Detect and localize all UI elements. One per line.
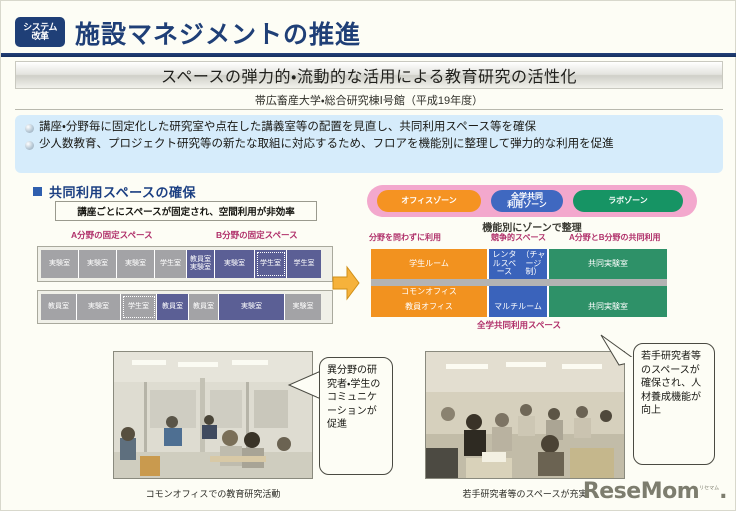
- zone-cell-label: コモンオフィス: [401, 288, 457, 297]
- room-cell-label: 実験室: [293, 303, 314, 311]
- room-cell-label: 実験室: [125, 260, 146, 268]
- after-floor-row-2-top: コモンオフィス: [371, 286, 667, 298]
- zone-lab: ラボゾーン: [573, 190, 683, 212]
- room-cell-label: 教員室: [162, 303, 183, 311]
- zone-office: オフィスゾーン: [377, 190, 481, 212]
- room-cell: 実験室: [41, 250, 79, 278]
- room-cell: 学生室: [287, 250, 321, 278]
- subtitle-text: スペースの弾力的・流動的な活用による教育研究の活性化: [161, 63, 577, 87]
- subtitle-divider: [15, 109, 723, 110]
- room-cell-label: 実験室: [88, 303, 109, 311]
- zone-shared: 全学共同利用ゾーン: [491, 190, 563, 212]
- before-caption-text: 講座ごとにスペースが固定され、空間利用が非効率: [77, 204, 294, 218]
- room-cell-label: 学生室: [128, 303, 149, 311]
- zone-cell-label: 共同実験室: [588, 303, 628, 312]
- zone-sub-shared: 競争的スペース: [491, 232, 546, 243]
- section-heading-label: 共同利用スペースの確保: [49, 182, 196, 201]
- separator-bar: [371, 279, 667, 286]
- bullet-panel: 講座・分野毎に固定化した研究室や点在した講義室等の配置を見直し、共同利用スペース…: [15, 115, 723, 173]
- subtitle-band: スペースの弾力的・流動的な活用による教育研究の活性化: [15, 61, 723, 89]
- header-divider: [1, 53, 736, 57]
- after-row-separator: [371, 279, 667, 286]
- slide-root: システム 改革 施設マネジメントの推進 スペースの弾力的・流動的な活用による教育…: [0, 0, 736, 511]
- badge-line-2: 改革: [31, 32, 48, 41]
- after-bottom-label: 全学共同利用スペース: [371, 319, 667, 331]
- room-cell: 実験室: [77, 294, 121, 320]
- section-heading: 共同利用スペースの確保: [33, 182, 196, 201]
- after-floor-row-1: 学生ルームレンタルスペース（チャージ制）共同実験室: [371, 249, 667, 279]
- watermark-dot: .: [719, 479, 727, 504]
- room-cell: 学生室: [255, 250, 287, 278]
- zone-cell: レンタルスペース（チャージ制）: [489, 249, 549, 279]
- zone-sub-lab: A分野とB分野の共同利用: [569, 232, 661, 243]
- room-cell: 実験室: [285, 294, 321, 320]
- callout-young-researchers-text: 若手研究者等のスペースが確保され、人材養成機能が向上: [641, 351, 701, 416]
- zone-sublabels: 分野を問わずに利用 競争的スペース A分野とB分野の共同利用: [367, 232, 697, 244]
- zone-cell-label: マルチルーム: [494, 303, 542, 312]
- resemom-watermark: ReseMomリセマム.: [583, 479, 727, 504]
- zone-cell: 教員オフィス: [371, 298, 489, 317]
- bullet-text: 講座・分野毎に固定化した研究室や点在した講義室等の配置を見直し、共同利用スペース…: [39, 120, 536, 136]
- zone-cell: 共同実験室: [549, 249, 667, 279]
- room-cell-label: 教員室: [193, 303, 214, 311]
- square-bullet-icon: [33, 187, 42, 196]
- subtitle-note: 帯広畜産大学・総合研究棟Ⅰ号館（平成19年度）: [15, 91, 723, 109]
- zone-cell: [489, 286, 549, 298]
- room-cell-label: 実験室: [224, 260, 245, 268]
- zone-cell-label: 学生ルーム: [409, 260, 449, 269]
- zone-shared-label: 全学共同利用ゾーン: [507, 193, 547, 210]
- callout-communication-text: 異分野の研究者・学生のコミュニケーションが促進: [327, 365, 380, 430]
- room-cell-label: 教員室: [190, 256, 211, 264]
- room-cell: 教員室: [157, 294, 189, 320]
- page-title: 施設マネジメントの推進: [75, 15, 361, 51]
- callout-young-researchers: 若手研究者等のスペースが確保され、人材養成機能が向上: [633, 343, 715, 465]
- field-b-label: B分野の固定スペース: [216, 229, 298, 241]
- photo-young-researchers: [425, 351, 625, 479]
- room-cell: 学生室: [155, 250, 187, 278]
- zone-cell: コモンオフィス: [371, 286, 489, 298]
- before-floor-row-2: 教員室実験室学生室教員室教員室実験室実験室: [37, 290, 333, 324]
- photo-common-office: [113, 351, 313, 479]
- room-cell-label: 学生室: [260, 260, 281, 268]
- zone-cell-label: 共同実験室: [588, 260, 628, 269]
- callout-communication: 異分野の研究者・学生のコミュニケーションが促進: [319, 357, 393, 475]
- room-cell-label: 実験室: [87, 260, 108, 268]
- slide-header: システム 改革 施設マネジメントの推進: [1, 9, 736, 53]
- room-cell: 教員室実験室: [187, 250, 215, 278]
- room-list: 教員室実験室学生室教員室教員室実験室実験室: [41, 294, 329, 320]
- before-caption-box: 講座ごとにスペースが固定され、空間利用が非効率: [55, 201, 317, 221]
- callout-tail-left-icon: [287, 369, 323, 408]
- zone-band: オフィスゾーン 全学共同利用ゾーン ラボゾーン: [367, 185, 697, 217]
- zone-cell: [549, 286, 667, 298]
- zone-cell-label: （チャージ制）: [520, 251, 547, 278]
- list-item: 少人数教育、プロジェクト研究等の新たな取組に対応するため、フロアを機能別に整理し…: [23, 137, 715, 153]
- room-cell: 実験室: [215, 250, 255, 278]
- bullet-text: 少人数教育、プロジェクト研究等の新たな取組に対応するため、フロアを機能別に整理し…: [39, 137, 614, 153]
- room-cell-label: 実験室: [190, 264, 211, 272]
- system-reform-badge: システム 改革: [15, 17, 65, 47]
- zone-cell: 学生ルーム: [371, 249, 489, 279]
- room-cell-label: 実験室: [241, 303, 262, 311]
- after-floor-row-2-bottom: 教員オフィスマルチルーム共同実験室: [371, 298, 667, 317]
- watermark-ruby: リセマム: [699, 486, 719, 492]
- zone-cell-label: 教員オフィス: [405, 303, 453, 312]
- zone-cell-label: レンタルスペース: [489, 251, 520, 278]
- room-list: 実験室実験室実験室学生室教員室実験室実験室学生室学生室: [41, 250, 329, 278]
- room-cell: 教員室: [189, 294, 219, 320]
- zone-cell: マルチルーム: [489, 298, 549, 317]
- room-cell-label: 教員室: [48, 303, 69, 311]
- zone-office-label: オフィスゾーン: [401, 197, 456, 205]
- room-cell: 教員室: [41, 294, 77, 320]
- room-cell: 実験室: [219, 294, 285, 320]
- bullet-dot-icon: [25, 141, 34, 150]
- room-cell: 学生室: [121, 294, 157, 320]
- room-cell: 実験室: [117, 250, 155, 278]
- transform-arrow-icon: [331, 259, 361, 317]
- list-item: 講座・分野毎に固定化した研究室や点在した講義室等の配置を見直し、共同利用スペース…: [23, 120, 715, 136]
- photo-caption-1: コモンオフィスでの教育研究活動: [113, 487, 313, 500]
- room-cell: 実験室: [79, 250, 117, 278]
- zone-sub-office: 分野を問わずに利用: [369, 232, 441, 243]
- before-floor-row-1: 実験室実験室実験室学生室教員室実験室実験室学生室学生室: [37, 246, 333, 282]
- zone-cell: 共同実験室: [549, 298, 667, 317]
- watermark-text: ReseMom: [583, 479, 699, 504]
- bullet-dot-icon: [25, 124, 34, 133]
- field-a-label: A分野の固定スペース: [71, 229, 153, 241]
- zone-lab-label: ラボゾーン: [608, 197, 648, 205]
- room-cell-label: 学生室: [160, 260, 181, 268]
- room-cell-label: 実験室: [49, 260, 70, 268]
- room-cell-label: 学生室: [294, 260, 315, 268]
